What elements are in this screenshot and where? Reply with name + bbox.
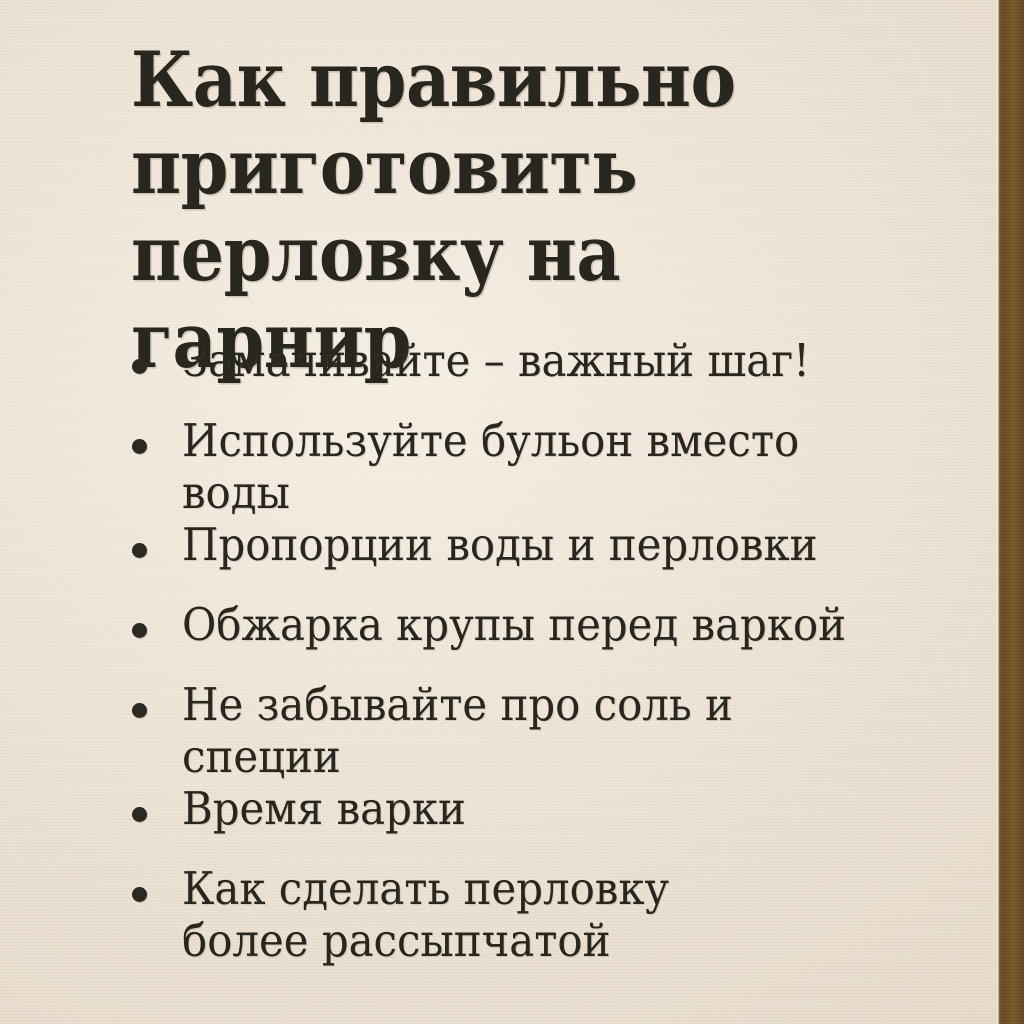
- list-item: Пропорции воды и перловки: [131, 519, 931, 599]
- list-item-label: Время варки: [182, 783, 879, 835]
- list-item: Используйте бульон вместо воды: [131, 415, 931, 519]
- list-item: Замачивайте – важный шаг!: [131, 335, 931, 415]
- bullet-dot-icon: [132, 887, 147, 902]
- tips-list: Замачивайте – важный шаг! Используйте бу…: [131, 335, 931, 967]
- bullet-dot-icon: [132, 623, 147, 638]
- edge-strip-grain: [999, 0, 1024, 1024]
- bullet-dot-icon: [132, 439, 147, 454]
- list-item: Обжарка крупы перед варкой: [131, 599, 931, 679]
- list-item-label: Как сделать перловку более рассыпчатой: [182, 863, 879, 967]
- bullet-dot-icon: [132, 359, 147, 374]
- page-title: Как правильно приготовить перловку на га…: [131, 36, 842, 384]
- list-item: Не забывайте про соль и специи: [131, 679, 931, 783]
- bullet-dot-icon: [132, 543, 147, 558]
- bullet-dot-icon: [132, 807, 147, 822]
- list-item-label: Пропорции воды и перловки: [182, 519, 879, 571]
- list-item: Время варки: [131, 783, 931, 863]
- list-item: Как сделать перловку более рассыпчатой: [131, 863, 931, 967]
- list-item-label: Не забывайте про соль и специи: [182, 679, 879, 783]
- list-item-label: Используйте бульон вместо воды: [182, 415, 879, 519]
- card-content: Как правильно приготовить перловку на га…: [131, 0, 931, 1024]
- right-edge-strip: [997, 0, 1024, 1024]
- bullet-dot-icon: [132, 703, 147, 718]
- list-item-label: Замачивайте – важный шаг!: [182, 335, 879, 387]
- recipe-tips-card: Как правильно приготовить перловку на га…: [0, 0, 1024, 1024]
- list-item-label: Обжарка крупы перед варкой: [182, 599, 879, 651]
